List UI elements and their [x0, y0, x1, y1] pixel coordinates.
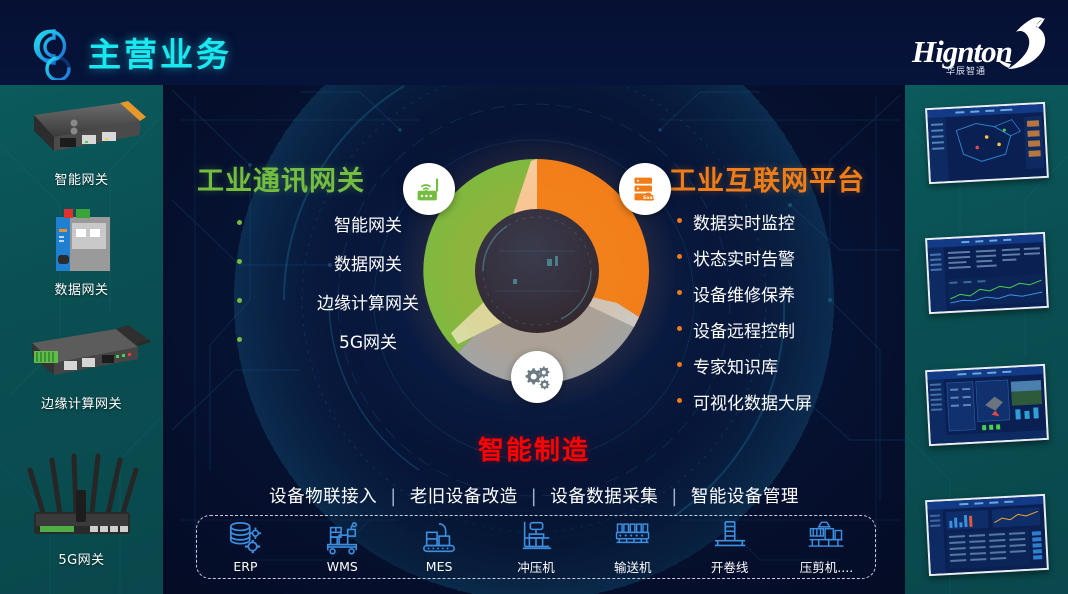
main-content: 工业通讯网关 智能网关 数据网关 边缘计算网关 5G网关 工业互联网平台 数据实… [163, 85, 905, 594]
icon-bar-item-stamping[interactable]: 冲压机 [491, 518, 581, 576]
brand-logo: Hignton 华辰智通 [904, 14, 1054, 76]
pipeline-item: 老旧设备改造 [410, 487, 518, 507]
right-screenshot-rail [905, 85, 1068, 594]
icon-bar-item-uncoiling[interactable]: 开卷线 [685, 518, 775, 576]
left-product-rail: 智能网关 数据网关 [0, 85, 163, 594]
icon-bar-item-mes[interactable]: MES [394, 520, 484, 574]
system-icon-bar: ERP WMS [196, 515, 876, 579]
product-caption: 智能网关 [0, 169, 163, 188]
list-item: 设备远程控制 [693, 317, 795, 342]
interlocking-circles-icon [27, 25, 85, 80]
warehouse-cart-icon [322, 520, 362, 556]
icon-bar-label: ERP [200, 559, 290, 574]
uncoiling-line-icon [710, 518, 750, 554]
left-column-heading: 工业通讯网关 [197, 159, 365, 198]
icon-bar-label: MES [394, 559, 484, 574]
pipeline-separator: | [390, 487, 396, 507]
manufacturing-badge [511, 351, 563, 403]
product-5g-gateway: 5G网关 [0, 440, 163, 568]
pipeline-row: 设备物联接入 | 老旧设备改造 | 设备数据采集 | 智能设备管理 [163, 483, 905, 508]
product-caption: 边缘计算网关 [0, 393, 163, 412]
slide-header: 主营业务 Hignton 华辰智通 [0, 0, 1068, 85]
pipeline-separator: | [671, 487, 677, 507]
device-list-trend-dashboard [927, 234, 1047, 312]
icon-bar-label: 冲压机 [491, 557, 581, 576]
icon-bar-label: 输送机 [588, 557, 678, 576]
center-title: 智能制造 [163, 430, 905, 467]
dashboard-screenshot [927, 367, 1047, 443]
stamping-machine-icon [516, 518, 556, 554]
icon-bar-item-shearing[interactable]: 压剪机.... [781, 518, 871, 576]
right-column-heading: 工业互联网平台 [669, 159, 865, 198]
equipment-detail-dashboard [927, 366, 1047, 444]
shearing-machine-icon [805, 518, 847, 554]
icon-bar-item-wms[interactable]: WMS [297, 520, 387, 574]
icon-bar-label: WMS [297, 559, 387, 574]
dashboard-screenshot [927, 497, 1047, 573]
dashboard-screenshot [927, 105, 1047, 181]
icon-bar-label: 开卷线 [685, 557, 775, 576]
router-wifi-icon [414, 175, 444, 203]
brand-subtitle: 华辰智通 [946, 64, 986, 77]
database-gear-icon [226, 520, 264, 556]
icon-bar-item-conveyor[interactable]: 输送机 [588, 518, 678, 576]
platform-badge: SaaS [619, 163, 671, 215]
page-title: 主营业务 [88, 28, 232, 76]
5g-gateway-router-photo [12, 440, 152, 545]
conveyor-machine-icon [612, 518, 654, 554]
list-item: 状态实时告警 [693, 245, 795, 270]
production-data-table-dashboard [927, 496, 1047, 574]
data-gateway-device-photo [12, 203, 152, 275]
pipeline-item: 智能设备管理 [691, 487, 799, 507]
dashboard-screenshot [927, 235, 1047, 311]
pipeline-item: 设备数据采集 [550, 487, 658, 507]
conveyor-boxes-icon [419, 520, 459, 556]
map-monitoring-dashboard [927, 104, 1047, 182]
product-smart-gateway: 智能网关 [0, 93, 163, 188]
list-item: 可视化数据大屏 [693, 389, 812, 414]
server-saas-cloud-icon: SaaS [630, 175, 660, 203]
product-edge-gateway: 边缘计算网关 [0, 317, 163, 412]
svg-text:SaaS: SaaS [643, 195, 656, 201]
process-donut-chart: SaaS [421, 155, 653, 387]
pipeline-separator: | [531, 487, 537, 507]
product-caption: 5G网关 [0, 549, 163, 568]
list-item: 专家知识库 [693, 353, 778, 378]
smart-gateway-device-photo [12, 93, 152, 165]
gears-icon [522, 363, 552, 391]
edge-computing-gateway-device-photo [12, 317, 152, 389]
product-data-gateway: 数据网关 [0, 203, 163, 298]
product-caption: 数据网关 [0, 279, 163, 298]
icon-bar-label: 压剪机.... [781, 557, 871, 576]
icon-bar-item-erp[interactable]: ERP [200, 520, 290, 574]
slide-root: 主营业务 Hignton 华辰智通 [0, 0, 1068, 594]
list-item: 数据实时监控 [693, 209, 795, 234]
gateway-badge [403, 163, 455, 215]
pipeline-item: 设备物联接入 [269, 487, 377, 507]
list-item: 设备维修保养 [693, 281, 795, 306]
